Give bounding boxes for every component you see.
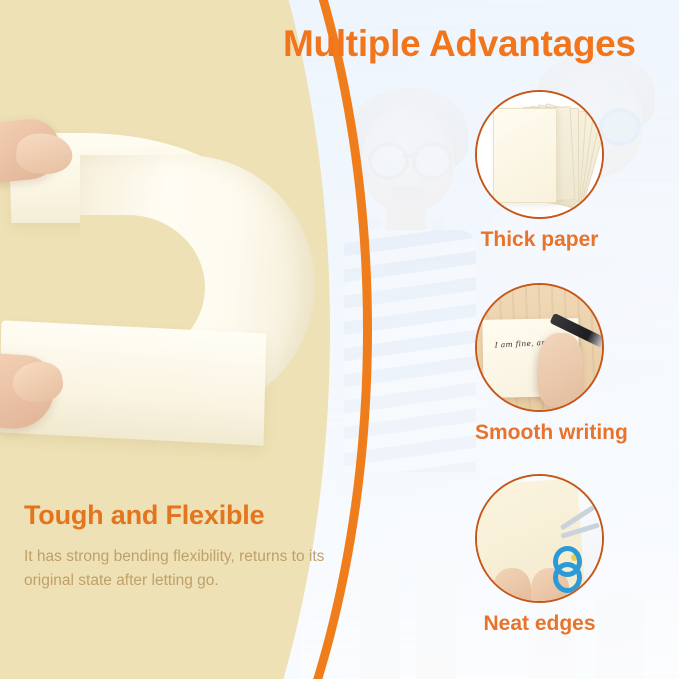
badge-circle-thick-paper (475, 90, 604, 219)
product-infographic: Multiple Advantages Tough and Flexible I… (0, 0, 679, 679)
scissor-handle-lower (553, 562, 582, 593)
feature-label-thick-paper: Thick paper (475, 228, 604, 252)
feature-smooth-writing[interactable]: I am fine, and Smooth writing (475, 283, 628, 445)
feature-thick-paper[interactable]: Thick paper (475, 90, 604, 252)
badge-circle-smooth-writing: I am fine, and (475, 283, 604, 412)
paper-front-sheet (493, 108, 557, 203)
hand-left (493, 568, 531, 603)
paper-stack-icon (477, 92, 602, 217)
caption-text: It has strong bending flexibility, retur… (24, 545, 354, 592)
feature-label-neat-edges: Neat edges (475, 612, 604, 636)
feature-label-smooth-writing: Smooth writing (475, 421, 628, 445)
page-title: Multiple Advantages (283, 23, 675, 65)
caption-title: Tough and Flexible (24, 500, 354, 531)
left-caption-block: Tough and Flexible It has strong bending… (24, 500, 354, 592)
feature-neat-edges[interactable]: Neat edges (475, 474, 604, 636)
scissors-icon (555, 520, 601, 580)
hero-image-paper-bend (0, 95, 320, 455)
writing-hand (537, 333, 583, 407)
badge-circle-neat-edges (475, 474, 604, 603)
